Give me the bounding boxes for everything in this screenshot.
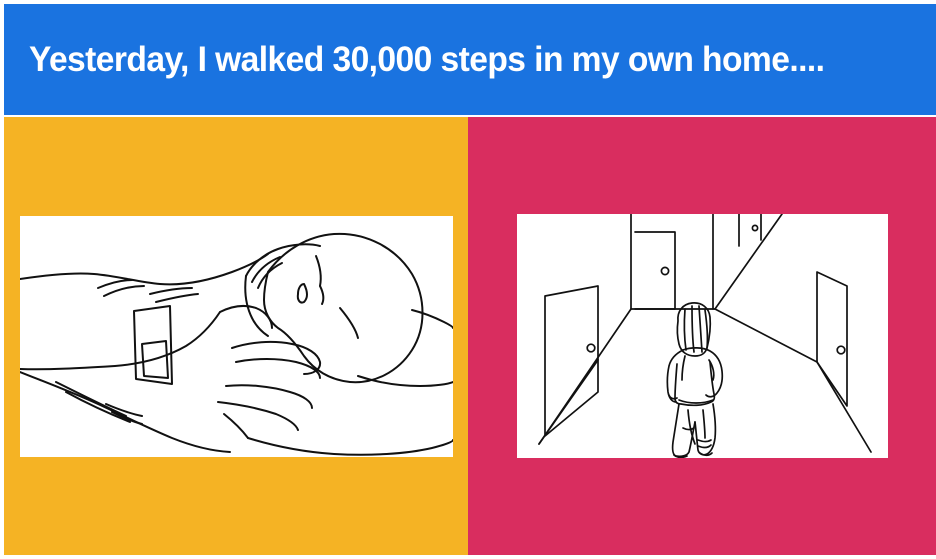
trouser-cuff-right-1 xyxy=(698,440,711,442)
hand-finger-1 xyxy=(232,341,320,373)
panel-right xyxy=(468,117,936,555)
doorknob-left-far xyxy=(661,267,668,274)
left-door-floor-edge xyxy=(539,360,598,444)
hair-strand-2 xyxy=(692,306,694,352)
shirt-fold-left xyxy=(682,356,685,380)
hand-finger-4 xyxy=(218,402,298,430)
panel-left xyxy=(4,117,468,555)
doorknob-right-near xyxy=(837,346,845,354)
page-title: Yesterday, I walked 30,000 steps in my o… xyxy=(4,42,824,77)
trouser-knee-crease xyxy=(683,428,694,430)
baby-brow xyxy=(316,256,321,286)
hair-strand-4 xyxy=(705,310,707,348)
doorknob-left-near xyxy=(587,344,595,352)
hair-strand-3 xyxy=(699,306,702,352)
lower-forearm-crease-4 xyxy=(112,412,142,424)
person-shirt xyxy=(675,362,714,405)
header-bar: Yesterday, I walked 30,000 steps in my o… xyxy=(4,4,936,115)
hallway-line-art-svg xyxy=(517,214,888,458)
meme-graphic: Yesterday, I walked 30,000 steps in my o… xyxy=(0,0,936,559)
forearm-crease-1 xyxy=(98,280,132,288)
door-left-near xyxy=(545,286,598,436)
baby-line-art-svg xyxy=(20,216,453,457)
support-arm-bottom xyxy=(358,376,453,386)
arms-holding-sleeping-baby-with-smartwatch-illustration xyxy=(20,216,453,457)
panel-row xyxy=(4,117,936,555)
upper-forearm-top-edge xyxy=(20,254,268,284)
baby-nose xyxy=(320,286,323,304)
ceiling-line-right xyxy=(715,214,782,309)
lower-forearm-crease-2 xyxy=(66,392,130,422)
right-door-floor-edge xyxy=(817,362,871,452)
person-walking-down-hallway-illustration xyxy=(517,214,888,458)
support-arm-lower-edge xyxy=(248,438,453,455)
forearm-crease-3 xyxy=(150,288,192,294)
trouser-cuff-right-2 xyxy=(698,445,711,447)
forearm-crease-2 xyxy=(104,286,144,296)
hair-strand-1 xyxy=(684,309,686,350)
trouser-crease-2 xyxy=(703,410,705,438)
support-arm-top xyxy=(412,310,453,328)
baby-blanket-fold-2 xyxy=(258,263,282,288)
doorknob-far xyxy=(752,225,757,230)
baby-closed-eye xyxy=(297,284,306,303)
baby-mouth xyxy=(340,308,358,338)
hallway-right-floor-line xyxy=(715,309,817,362)
lower-forearm-crease-1 xyxy=(56,382,126,416)
upper-forearm-bottom-edge xyxy=(20,312,220,369)
hand-finger-5 xyxy=(224,414,248,438)
forearm-crease-4 xyxy=(156,294,198,302)
